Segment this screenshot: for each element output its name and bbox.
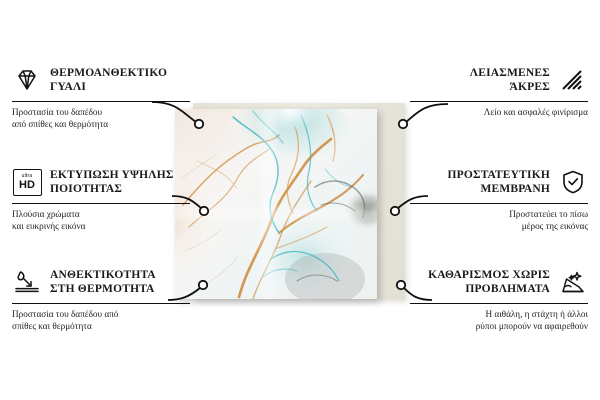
diamond-icon	[12, 67, 42, 93]
divider	[12, 203, 190, 204]
sparkle-clean-icon	[558, 269, 588, 295]
marble-ink-artwork	[175, 109, 377, 299]
feature-protective-membrane: ΠΡΟΣΤΑΤΕΥΤΙΚΗ ΜΕΜΒΡΑΝΗ Προστατεύει το πί…	[410, 166, 588, 232]
divider	[12, 303, 190, 304]
feature-title: ΛΕΙΑΣΜΕΝΕΣ ΆΚΡΕΣ	[470, 66, 550, 94]
infographic-stage: ΘΕΡΜΟΑΝΘΕΚΤΙΚΟ ΓΥΑΛΙ Προστασία του δαπέδ…	[0, 0, 600, 400]
feature-title: ΕΚΤΥΠΩΣΗ ΥΨΗΛΗΣ ΠΟΙΟΤΗΤΑΣ	[50, 168, 174, 196]
feature-header: ultra HD ΕΚΤΥΠΩΣΗ ΥΨΗΛΗΣ ΠΟΙΟΤΗΤΑΣ	[12, 166, 190, 198]
feature-title: ΘΕΡΜΟΑΝΘΕΚΤΙΚΟ ΓΥΑΛΙ	[50, 66, 167, 94]
feature-header: ΚΑΘΑΡΙΣΜΟΣ ΧΩΡΙΣ ΠΡΟΒΛΗΜΑΤΑ	[410, 266, 588, 298]
feature-title: ΚΑΘΑΡΙΣΜΟΣ ΧΩΡΙΣ ΠΡΟΒΛΗΜΑΤΑ	[428, 268, 550, 296]
feature-title: ΑΝΘΕΚΤΙΚΟΤΗΤΑ ΣΤΗ ΘΕΡΜΟΤΗΤΑ	[50, 268, 156, 296]
feature-header: ΘΕΡΜΟΑΝΘΕΚΤΙΚΟ ΓΥΑΛΙ	[12, 64, 190, 96]
ultra-hd-badge-icon: ultra HD	[12, 169, 42, 195]
divider	[410, 203, 588, 204]
glass-panel	[175, 109, 377, 299]
divider	[410, 101, 588, 102]
shield-check-icon	[558, 169, 588, 195]
divider	[410, 303, 588, 304]
feature-description: Προστατεύει το πίσω μέρος της εικόνας	[410, 209, 588, 232]
feature-title: ΠΡΟΣΤΑΤΕΥΤΙΚΗ ΜΕΜΒΡΑΝΗ	[448, 168, 550, 196]
feature-heat-durability: ΑΝΘΕΚΤΙΚΟΤΗΤΑ ΣΤΗ ΘΕΡΜΟΤΗΤΑ Προστασία το…	[12, 266, 190, 332]
feature-description: Η αιθάλη, η στάχτη ή άλλοι ρύποι μπορούν…	[410, 309, 588, 332]
feature-polished-edges: ΛΕΙΑΣΜΕΝΕΣ ΆΚΡΕΣ Λείο και ασφαλές φινίρι…	[410, 64, 588, 119]
feature-header: ΑΝΘΕΚΤΙΚΟΤΗΤΑ ΣΤΗ ΘΕΡΜΟΤΗΤΑ	[12, 266, 190, 298]
feature-heat-resistant-glass: ΘΕΡΜΟΑΝΘΕΚΤΙΚΟ ΓΥΑΛΙ Προστασία του δαπέδ…	[12, 64, 190, 130]
feature-description: Προστασία του δαπέδου από σπίθες και θερ…	[12, 107, 190, 130]
feature-header: ΠΡΟΣΤΑΤΕΥΤΙΚΗ ΜΕΜΒΡΑΝΗ	[410, 166, 588, 198]
ultra-hd-small-label: ultra	[22, 174, 33, 179]
polished-edge-icon	[558, 67, 588, 93]
feature-header: ΛΕΙΑΣΜΕΝΕΣ ΆΚΡΕΣ	[410, 64, 588, 96]
product-image	[175, 103, 405, 303]
feature-description: Προστασία του δαπέδου από σπίθες και θερ…	[12, 309, 190, 332]
ultra-hd-large-label: HD	[19, 180, 35, 191]
divider	[12, 101, 190, 102]
feature-description: Πλούσια χρώματα και ευκρινής εικόνα	[12, 209, 190, 232]
feature-high-quality-print: ultra HD ΕΚΤΥΠΩΣΗ ΥΨΗΛΗΣ ΠΟΙΟΤΗΤΑΣ Πλούσ…	[12, 166, 190, 232]
feature-easy-cleaning: ΚΑΘΑΡΙΣΜΟΣ ΧΩΡΙΣ ΠΡΟΒΛΗΜΑΤΑ Η αιθάλη, η …	[410, 266, 588, 332]
flame-deflect-icon	[12, 269, 42, 295]
feature-description: Λείο και ασφαλές φινίρισμα	[410, 107, 588, 119]
